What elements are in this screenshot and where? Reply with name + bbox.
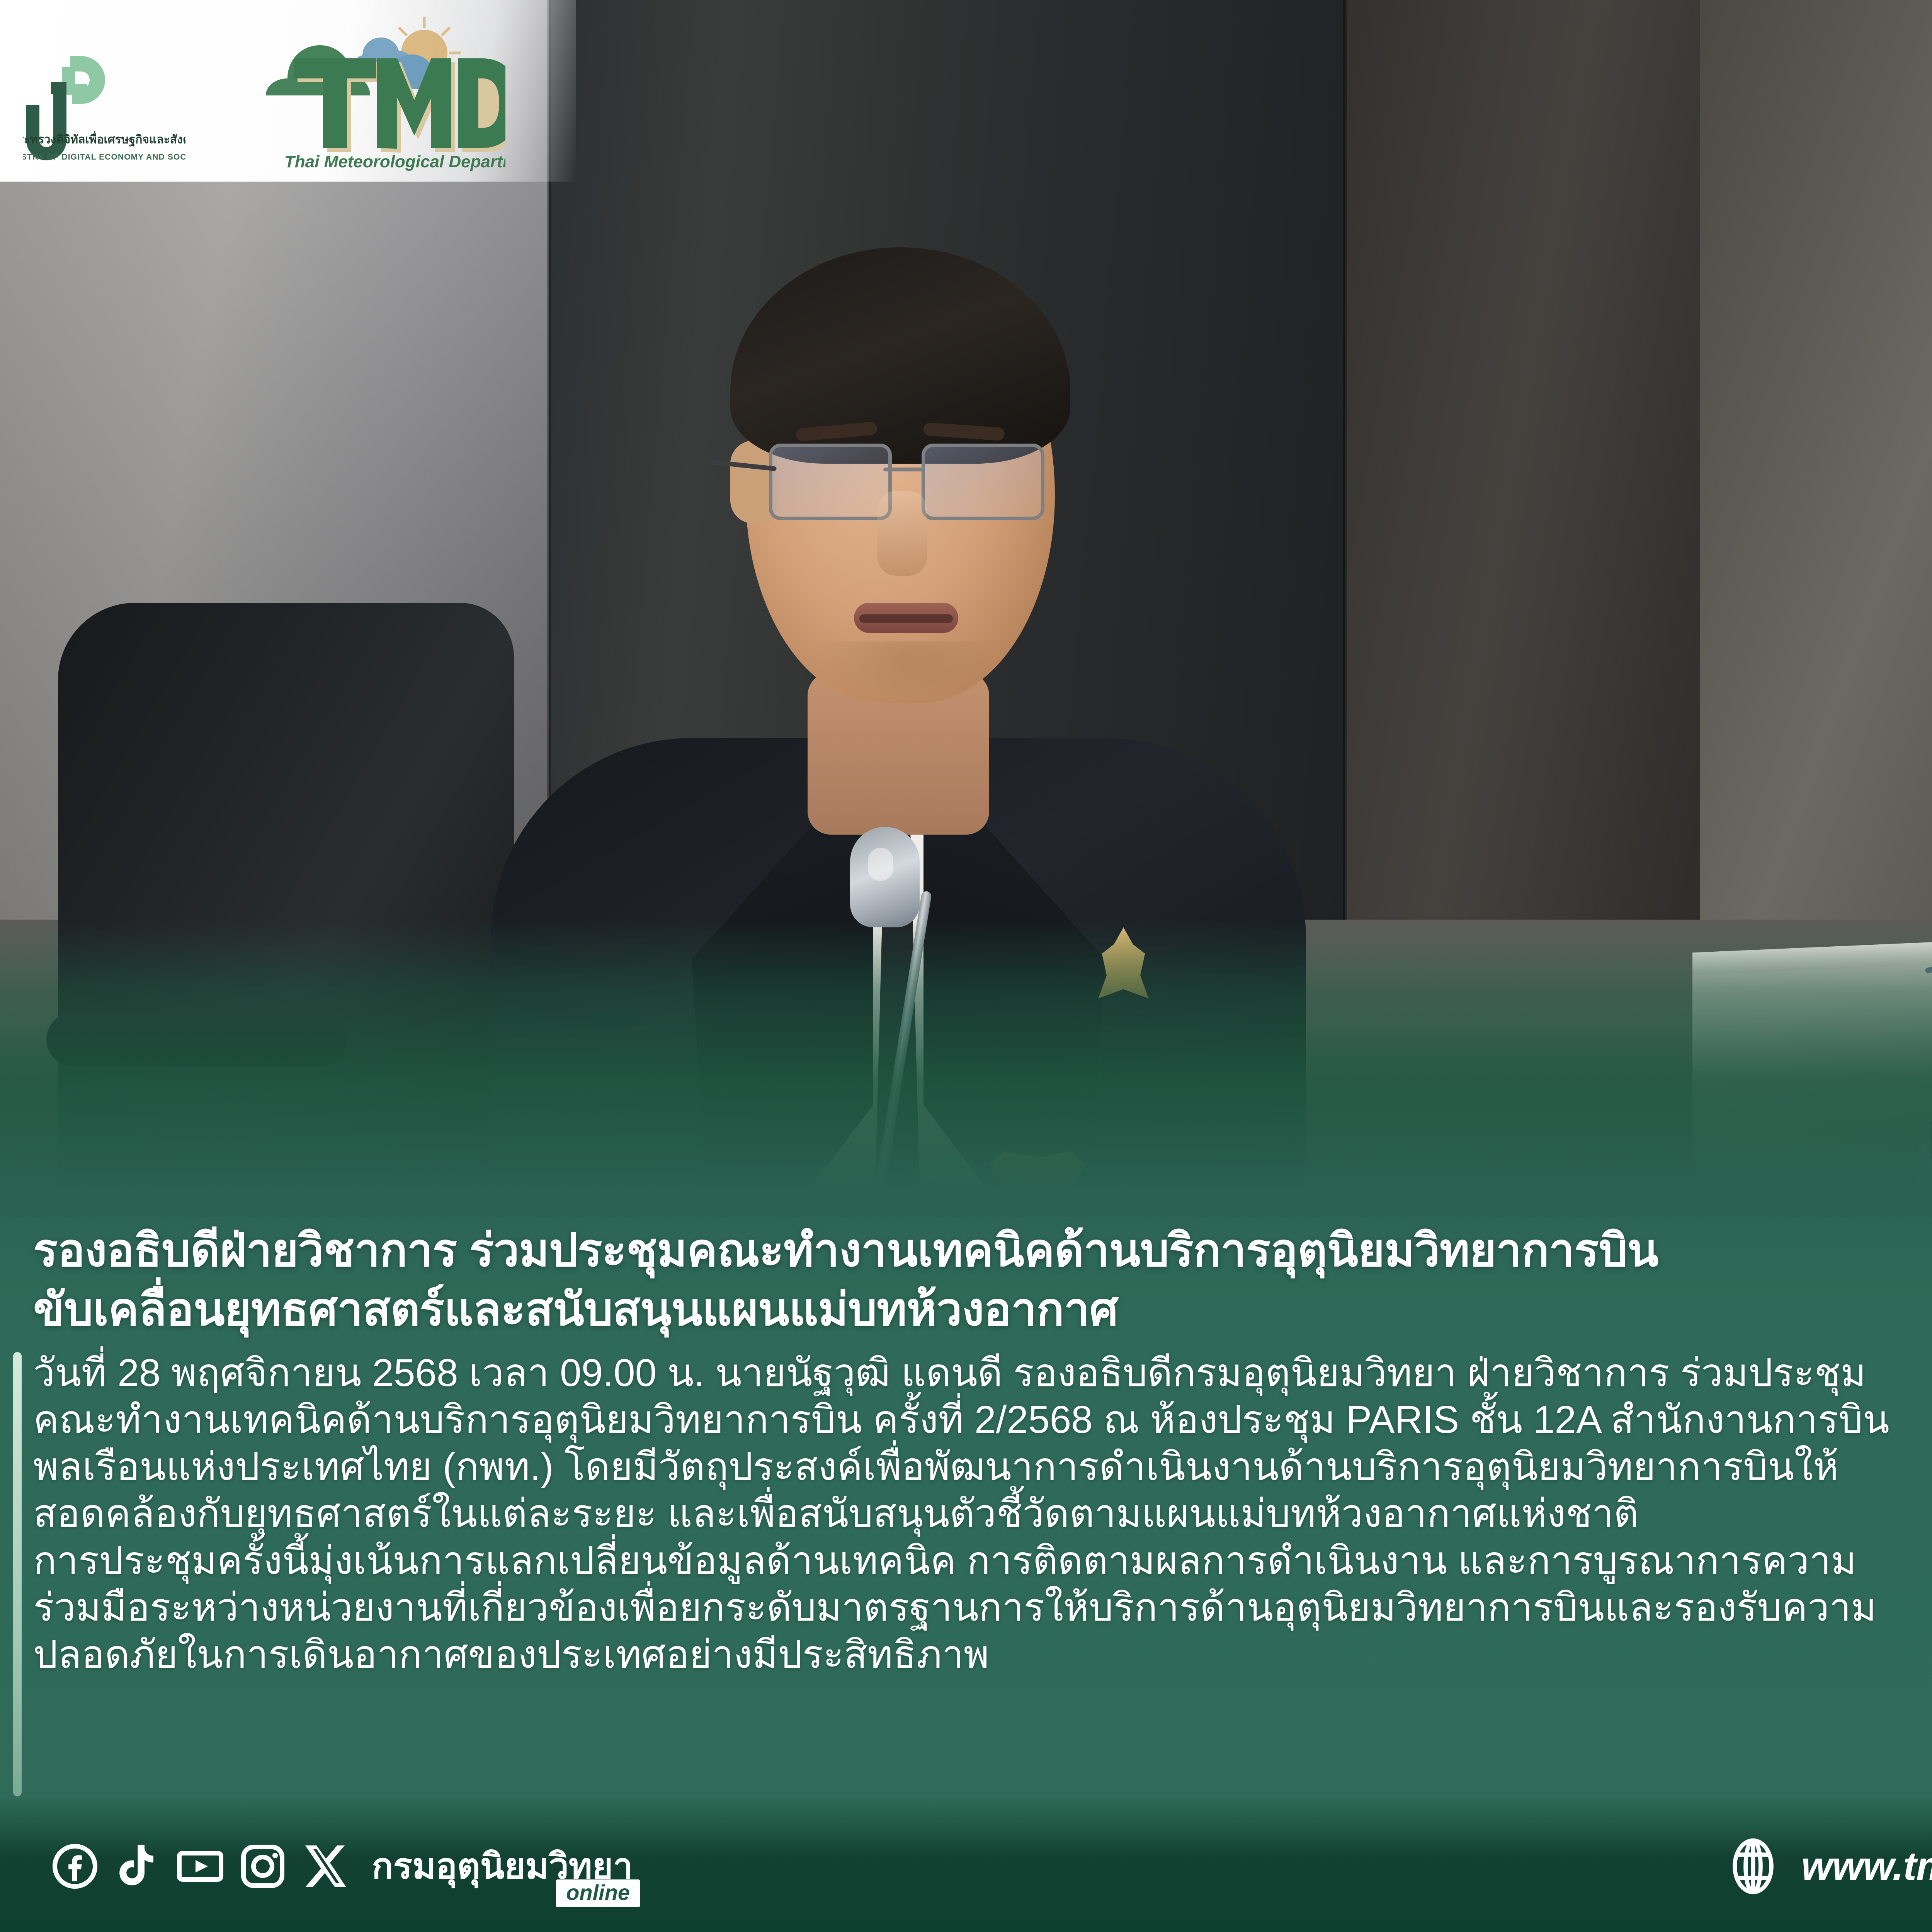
person-nose [877, 491, 927, 576]
headline-line-1: รองอธิบดีฝ่ายวิชาการ ร่วมประชุมคณะทำงานเ… [33, 1221, 1932, 1280]
text-block: รองอธิบดีฝ่ายวิชาการ ร่วมประชุมคณะทำงานเ… [0, 1221, 1932, 1678]
instagram-icon[interactable] [238, 1842, 287, 1891]
body-line-5: การประชุมครั้งนี้มุ่งเน้นการแลกเปลี่ยนข้… [33, 1537, 1932, 1585]
des-english-name: MINISTRY OF DIGITAL ECONOMY AND SOCIETY [23, 153, 185, 162]
youtube-icon[interactable] [175, 1842, 225, 1891]
headline: รองอธิบดีฝ่ายวิชาการ ร่วมประชุมคณะทำงานเ… [0, 1221, 1932, 1340]
glasses-lens-right [922, 444, 1044, 520]
body-line-7: ปลอดภัยในการเดินอากาศของประเทศอย่างมีประ… [33, 1631, 1932, 1679]
globe-icon [1726, 1838, 1780, 1895]
person-hair [730, 247, 1070, 464]
tmd-logo-icon: Thai Meteorological Department [208, 10, 505, 172]
press-release-card: กระทรวงดิจิทัลเพื่อเศรษฐกิจและสังคม MINI… [0, 0, 1932, 1932]
x-twitter-icon[interactable] [301, 1842, 350, 1891]
photo-wall-right [1700, 0, 1932, 966]
microphone-head [850, 827, 920, 927]
des-thai-name: กระทรวงดิจิทัลเพื่อเศรษฐกิจและสังคม [23, 131, 185, 147]
online-badge: online [556, 1879, 640, 1907]
logo-plate: กระทรวงดิจิทัลเพื่อเศรษฐกิจและสังคม MINI… [0, 0, 576, 182]
des-ministry-logo-icon: กระทรวงดิจิทัลเพื่อเศรษฐกิจและสังคม MINI… [23, 14, 185, 168]
website-url[interactable]: www.tmd.go.th [1801, 1844, 1932, 1889]
body-line-1: วันที่ 28 พฤศจิกายน 2568 เวลา 09.00 น. น… [33, 1350, 1932, 1397]
tmd-english-name: Thai Meteorological Department [284, 152, 505, 171]
accent-bar [13, 1352, 22, 1796]
body-copy: วันที่ 28 พฤศจิกายน 2568 เวลา 09.00 น. น… [33, 1350, 1932, 1679]
glasses-bridge [883, 468, 924, 471]
photo-wall-panel-2 [1345, 0, 1731, 947]
facebook-icon[interactable] [50, 1842, 100, 1891]
body-line-2: คณะทำงานเทคนิคด้านบริการอุตุนิยมวิทยาการ… [33, 1396, 1932, 1444]
body-line-4: สอดคล้องกับยุทธศาสตร์ในแต่ละระยะ และเพื่… [33, 1490, 1932, 1537]
body-line-3: พลเรือนแห่งประเทศไทย (กพท.) โดยมีวัตถุปร… [33, 1444, 1932, 1491]
contact-block: www.tmd.go.th 1182 สายด่วน [1726, 1821, 1932, 1912]
body-line-6: ร่วมมือระหว่างหน่วยงานที่เกี่ยวข้องเพื่อ… [33, 1584, 1932, 1631]
photo-wall-seam [1343, 0, 1347, 1043]
headline-line-2: ขับเคลื่อนยุทธศาสตร์และสนับสนุนแผนแม่บทห… [33, 1280, 1932, 1339]
glasses-lens-left [769, 444, 892, 520]
tiktok-icon[interactable] [113, 1842, 162, 1891]
brand-name-block: กรมอุตุนิยมวิทยา online [372, 1849, 633, 1884]
footer: กรมอุตุนิยมวิทยา online www.tmd.go.th 11… [0, 1816, 1932, 1932]
body-wrapper: วันที่ 28 พฤศจิกายน 2568 เวลา 09.00 น. น… [0, 1350, 1932, 1679]
person-mouth [854, 603, 958, 633]
person-chin [815, 641, 997, 711]
social-links: กรมอุตุนิยมวิทยา online [50, 1842, 633, 1891]
